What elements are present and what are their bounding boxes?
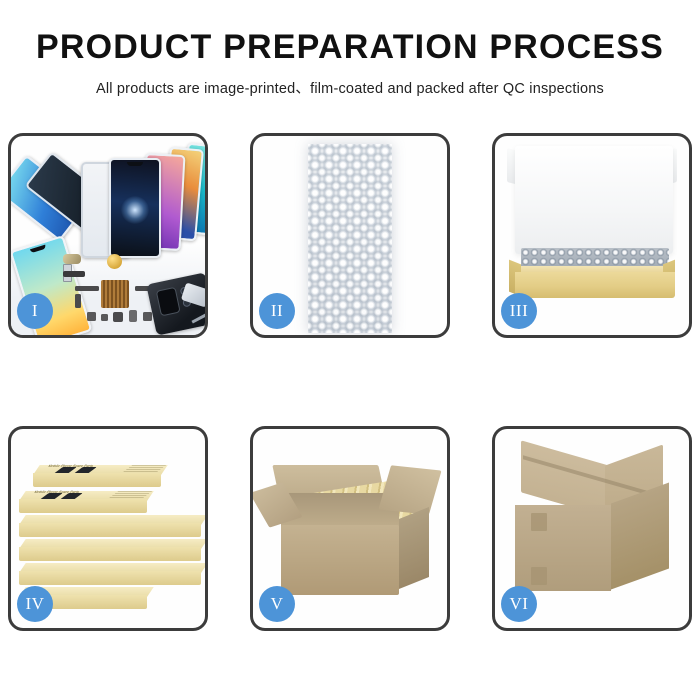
retail-box-label-2: Mobile Phone Spare Parts xyxy=(30,490,132,499)
flex-cable-vertical-icon xyxy=(75,294,81,308)
step-badge-4: IV xyxy=(17,586,53,622)
retail-box-top: Mobile Phone Spare Parts xyxy=(33,465,161,487)
step-badge-1: I xyxy=(17,293,53,329)
retail-box-right-3 xyxy=(67,563,201,585)
bubble-wrap-icon xyxy=(308,144,392,333)
box-white-lid-icon xyxy=(515,146,673,254)
logic-board-icon xyxy=(101,280,129,308)
process-step-6: VI xyxy=(492,426,692,631)
battery-connector-icon xyxy=(63,271,85,277)
step-badge-6: VI xyxy=(501,586,537,622)
retail-box-2: Mobile Phone Spare Parts xyxy=(19,491,147,513)
small-part-2-icon xyxy=(101,314,108,321)
carton-tape-top xyxy=(531,513,547,531)
sealed-carton-front-face xyxy=(515,505,611,591)
small-part-3-icon xyxy=(113,312,123,322)
carton-tape-bottom xyxy=(531,567,547,585)
process-step-1: I xyxy=(8,133,208,338)
process-grid: I II III xyxy=(0,128,700,673)
step-badge-5: V xyxy=(259,586,295,622)
retail-box-right-2 xyxy=(67,539,201,561)
step-badge-2: II xyxy=(259,293,295,329)
small-part-5-icon xyxy=(143,312,152,321)
process-step-3: III xyxy=(492,133,692,338)
process-step-2: II xyxy=(250,133,450,338)
retail-box-right-1 xyxy=(67,515,201,537)
speaker-part-icon xyxy=(107,254,122,269)
tray-front-icon xyxy=(515,272,675,298)
step-badge-3: III xyxy=(501,293,537,329)
small-part-1-icon xyxy=(87,312,96,321)
carton-side-face xyxy=(399,507,429,589)
small-part-4-icon xyxy=(129,310,137,322)
header: PRODUCT PREPARATION PROCESS All products… xyxy=(0,0,700,98)
spare-parts-group xyxy=(63,254,208,338)
camera-module-icon xyxy=(63,254,81,264)
page-title: PRODUCT PREPARATION PROCESS xyxy=(0,30,700,66)
process-step-5: V xyxy=(250,426,450,631)
carton-right-flap xyxy=(378,465,441,515)
page-subtitle: All products are image-printed、film-coat… xyxy=(0,77,700,98)
retail-box-label-1: Mobile Phone Spare Parts xyxy=(44,464,146,473)
phone-front-display-icon xyxy=(109,158,161,258)
carton-front-face xyxy=(281,525,399,595)
flex-cable-icon xyxy=(75,286,99,291)
process-step-4: Mobile Phone Spare Parts Mobile Phone Sp… xyxy=(8,426,208,631)
